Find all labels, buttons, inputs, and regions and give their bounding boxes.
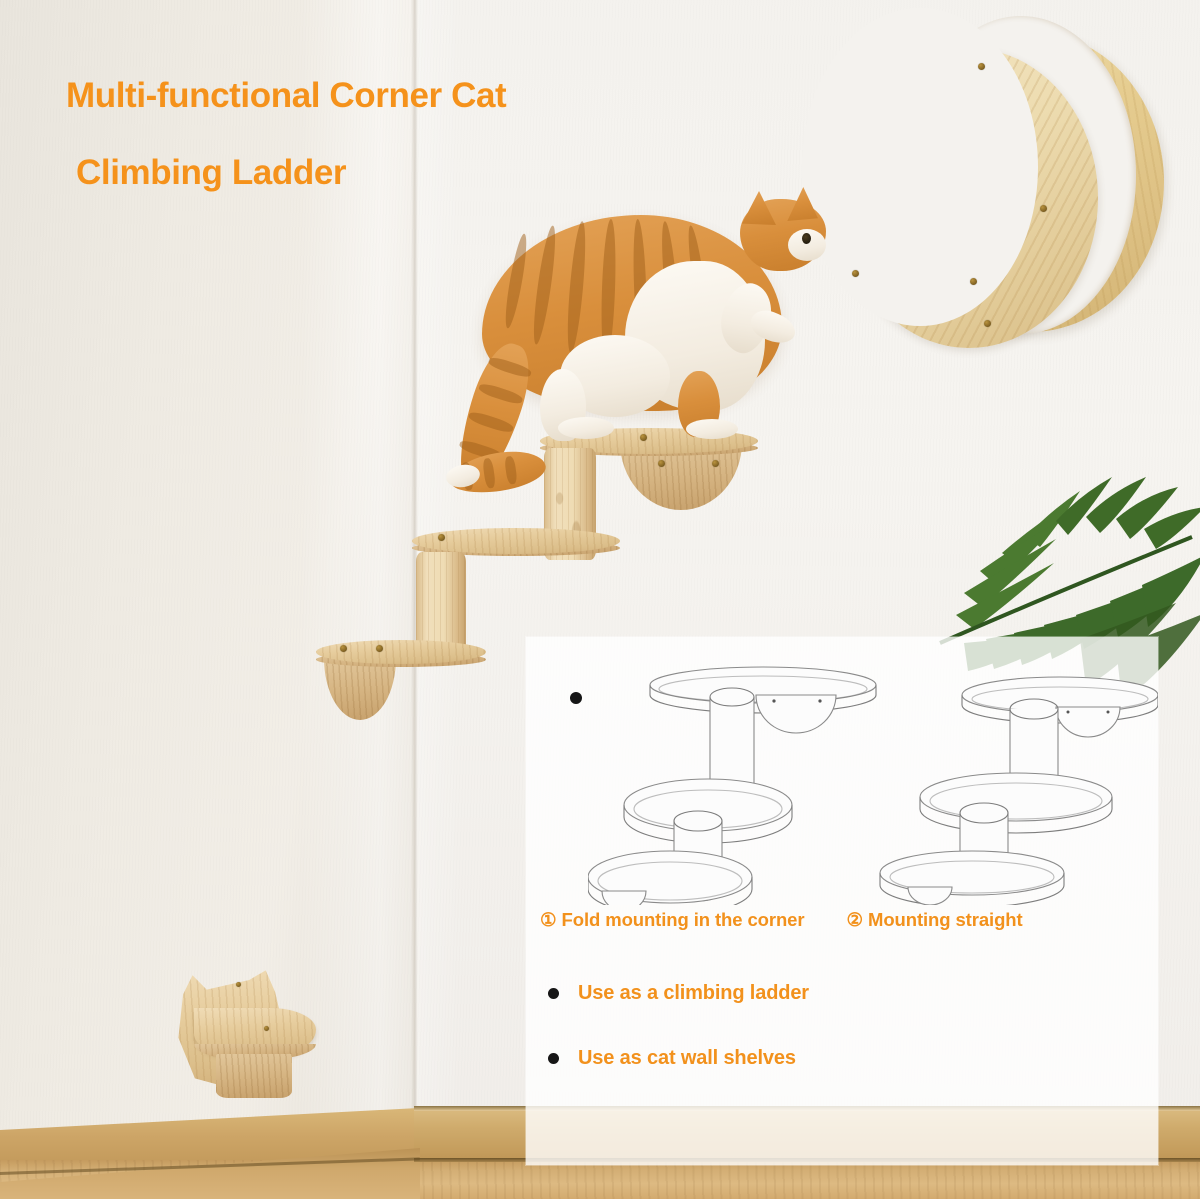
title-line-2: Climbing Ladder [76,153,346,193]
cat-head-shelf [172,968,322,1093]
screw [438,534,445,541]
feature-item-wall-shelves: Use as cat wall shelves [548,1047,1180,1070]
caption-1-label: Fold mounting in the corner [562,909,805,930]
screw [236,982,241,987]
shelf-bracket [324,658,396,720]
product-image-canvas: ① Fold mounting in the corner ② Mounting… [0,0,1200,1199]
cat-rear-paw-left [558,417,614,439]
screw [984,320,991,327]
cat-eye [802,233,811,244]
screw [852,270,859,277]
panel-bullet-dot [570,692,582,704]
diagram-captions: ① Fold mounting in the corner ② Mounting… [526,909,1158,931]
feature-item-climbing-ladder: Use as a climbing ladder [548,982,1180,1005]
shelf-surface [316,640,486,664]
screw [376,645,383,652]
orange-tabby-cat [450,185,850,555]
feature-label: Use as cat wall shelves [578,1047,796,1070]
caption-1-marker: ① [540,909,557,930]
straight-mount-diagram [878,655,1158,910]
screw [340,645,347,652]
screw [264,1026,269,1031]
feature-label: Use as a climbing ladder [578,982,809,1005]
info-panel: ① Fold mounting in the corner ② Mounting… [526,637,1158,1165]
crescent-moon-perch [840,30,1170,360]
moon-front-panel [840,48,1098,348]
caption-2-label: Mounting straight [868,909,1023,930]
feature-list: Use as a climbing ladder Use as cat wall… [548,982,1180,1112]
caption-fold-corner: ① Fold mounting in the corner [540,909,804,931]
title-line-1: Multi-functional Corner Cat [66,76,506,116]
fold-corner-diagram [588,655,888,910]
screw [978,63,985,70]
screw [1040,205,1047,212]
bullet-dot-icon [548,1053,559,1064]
oval-shelf-lower [316,640,486,720]
caption-2-marker: ② [846,909,863,930]
cat-head-support [216,1054,292,1098]
screw [970,278,977,285]
caption-mounting-straight: ② Mounting straight [846,909,1022,931]
cat-rear-paw-right [686,419,738,439]
bullet-dot-icon [548,988,559,999]
